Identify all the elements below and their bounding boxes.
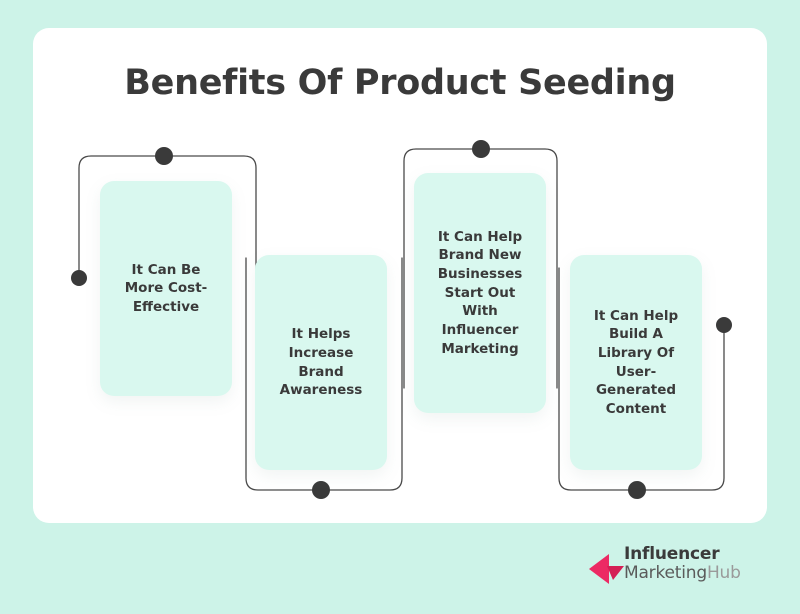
- content-panel: Benefits Of Product Seeding: [33, 28, 767, 523]
- page-title: Benefits Of Product Seeding: [33, 63, 767, 103]
- brand-logo-text: Influencer MarketingHub: [624, 546, 741, 582]
- benefit-card-1-text: It Can Be More Cost- Effective: [125, 261, 208, 317]
- benefit-card-2[interactable]: It Helps Increase Brand Awareness: [255, 255, 387, 470]
- benefit-card-4[interactable]: It Can Help Build A Library Of User- Gen…: [570, 255, 702, 470]
- brand-logo[interactable]: Influencer MarketingHub: [588, 546, 760, 592]
- connector-dot-4-bottom: [628, 481, 646, 499]
- connector-dot-start: [71, 270, 87, 286]
- connector-dot-1-top: [155, 147, 173, 165]
- left-arrow-mark-icon: [588, 552, 624, 586]
- benefit-card-4-text: It Can Help Build A Library Of User- Gen…: [594, 307, 678, 419]
- connector-dot-end: [716, 317, 732, 333]
- benefit-card-3[interactable]: It Can Help Brand New Businesses Start O…: [414, 173, 546, 413]
- connector-dot-2-bottom: [312, 481, 330, 499]
- infographic-canvas: Benefits Of Product Seeding: [0, 0, 800, 614]
- brand-logo-line-2: MarketingHub: [624, 565, 741, 582]
- connector-dot-3-top: [472, 140, 490, 158]
- brand-logo-hub: Hub: [707, 563, 741, 583]
- benefit-card-3-text: It Can Help Brand New Businesses Start O…: [438, 228, 523, 358]
- benefit-card-1[interactable]: It Can Be More Cost- Effective: [100, 181, 232, 396]
- benefit-card-2-text: It Helps Increase Brand Awareness: [280, 325, 363, 400]
- brand-logo-line-1: Influencer: [624, 546, 741, 563]
- brand-logo-marketing: Marketing: [624, 563, 707, 583]
